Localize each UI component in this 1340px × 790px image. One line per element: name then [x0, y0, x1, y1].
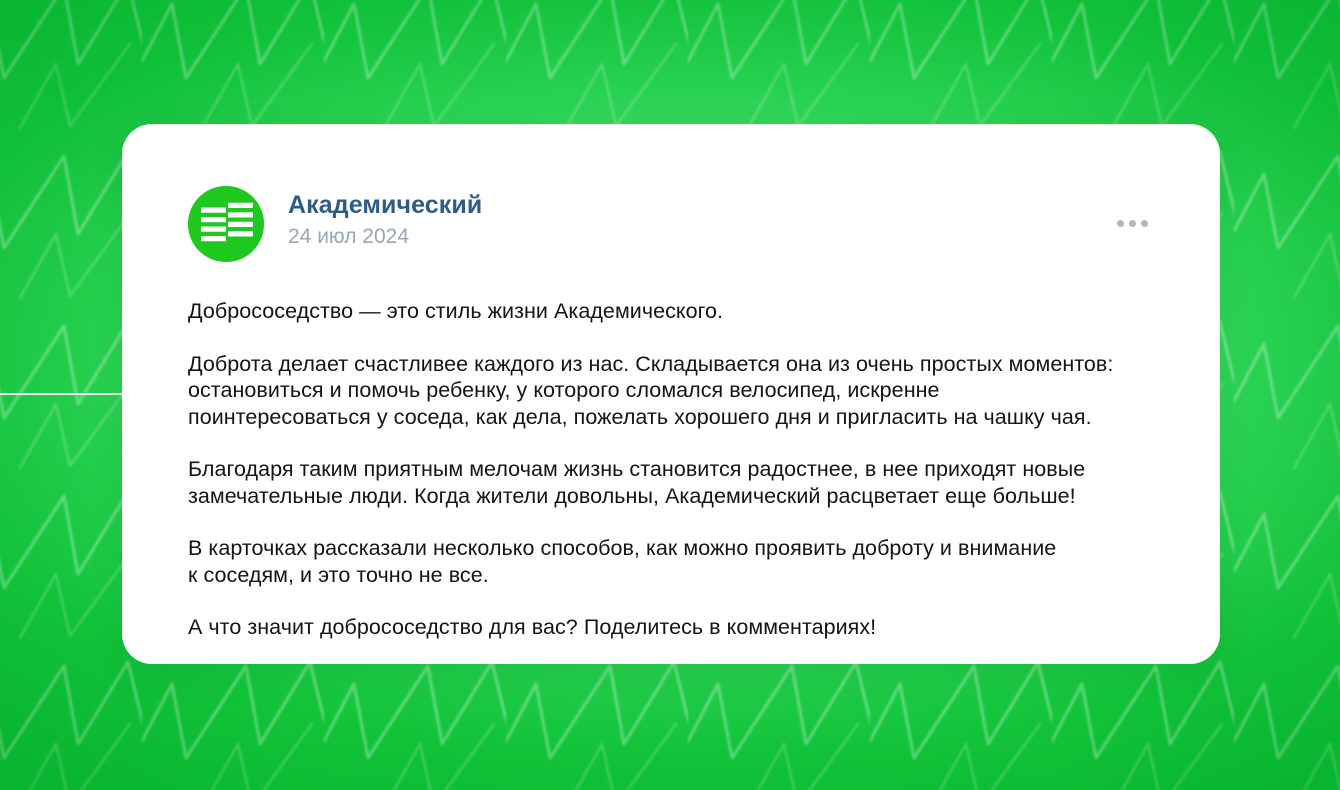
more-horizontal-icon-dot-3 — [1141, 220, 1148, 227]
post-card: Академический 24 июл 2024 Добрососедство… — [122, 124, 1220, 664]
post-paragraph: Благодаря таким приятным мелочам жизнь с… — [188, 456, 1150, 509]
post-paragraph: Добрососедство — это стиль жизни Академи… — [188, 298, 1150, 325]
post-paragraph: Доброта делает счастливее каждого из нас… — [188, 351, 1150, 431]
more-horizontal-icon-dot-2 — [1129, 220, 1136, 227]
post-header: Академический 24 июл 2024 — [188, 186, 1150, 272]
post-date: 24 июл 2024 — [288, 225, 482, 249]
bars-logo-icon — [188, 186, 264, 262]
avatar[interactable] — [188, 186, 264, 262]
left-edge-hairline — [0, 393, 123, 395]
more-horizontal-icon-dot-1 — [1117, 220, 1124, 227]
post-paragraph: А что значит добрососедство для вас? Под… — [188, 614, 1150, 641]
author-name[interactable]: Академический — [288, 191, 482, 220]
post-body: Добрососедство — это стиль жизни Академи… — [188, 298, 1150, 641]
more-options-button[interactable] — [1115, 214, 1150, 233]
screenshot-root: Академический 24 июл 2024 Добрососедство… — [0, 0, 1340, 790]
author-block: Академический 24 июл 2024 — [288, 186, 482, 249]
post-paragraph: В карточках рассказали несколько способо… — [188, 535, 1150, 588]
